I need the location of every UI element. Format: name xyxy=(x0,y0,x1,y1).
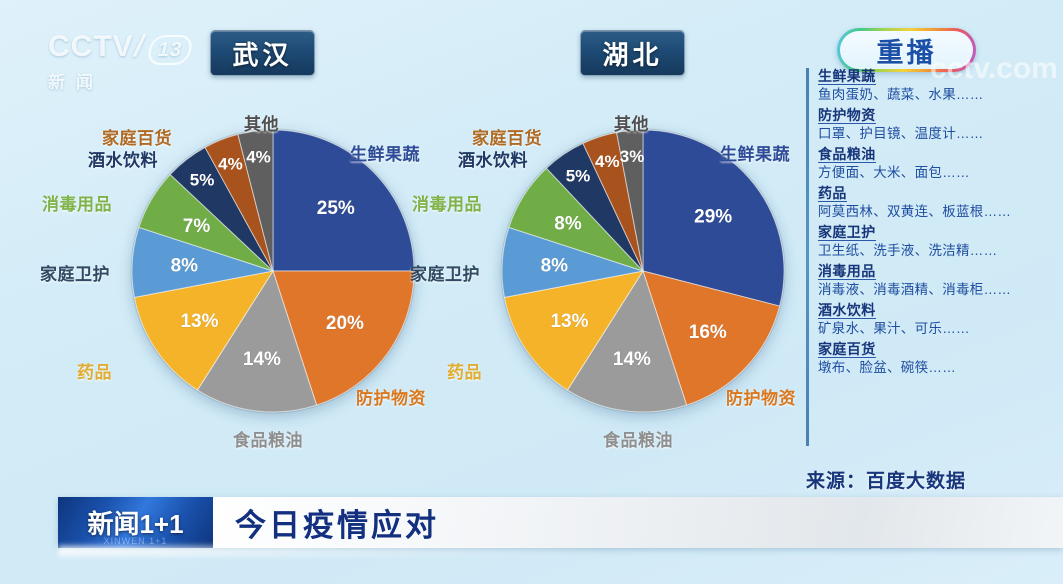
replay-badge: 重播 xyxy=(837,28,976,72)
legend-entry-term: 家庭卫护 xyxy=(818,225,876,241)
cctv-logo-slash: / xyxy=(130,32,148,62)
pie-slice-value: 16% xyxy=(689,322,727,343)
category-legend: 生鲜果蔬鱼肉蛋奶、蔬菜、水果……防护物资口罩、护目镜、温度计……食品粮油方便面、… xyxy=(806,68,1058,446)
legend-entry-term: 食品粮油 xyxy=(818,147,876,163)
legend-entry: 酒水饮料矿泉水、果汁、可乐…… xyxy=(818,302,1058,337)
pie-category-label: 药品 xyxy=(447,358,482,383)
pie-slice-value: 4% xyxy=(595,152,620,171)
pie-slice-value: 25% xyxy=(317,198,355,219)
program-logo: 新闻1+1 XINWEN 1+1 xyxy=(58,497,213,548)
pie-slice-value: 4% xyxy=(246,147,271,166)
pie-category-label: 食品粮油 xyxy=(603,426,673,451)
pie-slice-value: 3% xyxy=(620,147,645,166)
pie-category-label: 生鲜果蔬 xyxy=(350,140,420,165)
pie-category-label: 食品粮油 xyxy=(233,426,303,451)
legend-entry-definition: 口罩、护目镜、温度计…… xyxy=(818,126,1058,142)
pie-svg: 29%16%14%13%8%8%5%4%3% xyxy=(498,126,788,416)
chart-title-wuhan: 武汉 xyxy=(210,30,315,76)
data-source-label: 来源：百度大数据 xyxy=(806,466,966,493)
replay-badge-inner: 重播 xyxy=(840,31,973,69)
pie-category-label: 酒水饮料 xyxy=(458,146,528,171)
pie-slice-value: 8% xyxy=(171,255,199,276)
pie-slice-value: 8% xyxy=(554,213,582,234)
chart-title-wuhan-label: 武汉 xyxy=(232,35,292,72)
replay-badge-label: 重播 xyxy=(877,31,937,70)
cctv-logo-wordmark: CCTV/13 xyxy=(48,32,196,65)
pie-slice-value: 5% xyxy=(566,166,591,185)
legend-entry-term: 消毒用品 xyxy=(818,264,876,280)
legend-entry: 消毒用品消毒液、消毒酒精、消毒柜…… xyxy=(818,263,1058,298)
pie-slice-value: 14% xyxy=(613,349,651,370)
pie-slice-value: 14% xyxy=(243,349,281,370)
headline-bar: 今日疫情应对 xyxy=(213,497,1063,548)
pie-slice-value: 5% xyxy=(190,171,215,190)
pie-category-label: 家庭百货 xyxy=(102,124,172,149)
legend-entry-definition: 方便面、大米、面包…… xyxy=(818,165,1058,181)
pie-category-label: 其他 xyxy=(614,110,649,135)
pie-slice-value: 4% xyxy=(218,155,243,174)
legend-entry-definition: 阿莫西林、双黄连、板蓝根…… xyxy=(818,204,1058,220)
headline-text: 今日疫情应对 xyxy=(235,500,439,545)
pie-category-label: 其他 xyxy=(244,110,279,135)
pie-slice-value: 20% xyxy=(326,313,364,334)
pie-slice-value: 13% xyxy=(550,311,588,332)
legend-entry-term: 防护物资 xyxy=(818,108,876,124)
chart-title-hubei: 湖北 xyxy=(580,30,685,76)
pie-slice-value: 8% xyxy=(541,255,569,276)
legend-entry-definition: 矿泉水、果汁、可乐…… xyxy=(818,321,1058,337)
pie-category-label: 酒水饮料 xyxy=(88,146,158,171)
pie-category-label: 防护物资 xyxy=(356,384,426,409)
legend-entry-definition: 消毒液、消毒酒精、消毒柜…… xyxy=(818,282,1058,298)
pie-category-label: 生鲜果蔬 xyxy=(720,140,790,165)
pie-category-label: 药品 xyxy=(77,358,112,383)
legend-entry-term: 酒水饮料 xyxy=(818,303,876,319)
legend-entry: 生鲜果蔬鱼肉蛋奶、蔬菜、水果…… xyxy=(818,68,1058,103)
legend-entry: 防护物资口罩、护目镜、温度计…… xyxy=(818,107,1058,142)
legend-entry: 家庭卫护卫生纸、洗手液、洗洁精…… xyxy=(818,224,1058,259)
legend-entry-definition: 卫生纸、洗手液、洗洁精…… xyxy=(818,243,1058,259)
pie-category-label: 家庭卫护 xyxy=(40,260,110,285)
pie-category-label: 家庭百货 xyxy=(472,124,542,149)
legend-entry-definition: 鱼肉蛋奶、蔬菜、水果…… xyxy=(818,87,1058,103)
pie-svg: 25%20%14%13%8%7%5%4%4% xyxy=(128,126,418,416)
cctv-channel-logo: CCTV/13 新闻 xyxy=(48,32,196,94)
legend-entry: 食品粮油方便面、大米、面包…… xyxy=(818,146,1058,181)
pie-slice-value: 29% xyxy=(694,207,732,228)
legend-entry-term: 家庭百货 xyxy=(818,342,876,358)
legend-entry: 家庭百货墩布、脸盆、碗筷…… xyxy=(818,341,1058,376)
pie-slice-value: 13% xyxy=(180,311,218,332)
pie-slice-value: 7% xyxy=(183,216,211,237)
pie-category-label: 防护物资 xyxy=(726,384,796,409)
chart-title-hubei-label: 湖北 xyxy=(602,35,662,72)
legend-entry-term: 药品 xyxy=(818,186,847,202)
cctv-logo-subtitle: 新闻 xyxy=(48,68,196,93)
banner-glow-streak xyxy=(58,546,618,556)
lower-third-banner: 新闻1+1 XINWEN 1+1 今日疫情应对 xyxy=(58,497,1063,548)
pie-category-label: 消毒用品 xyxy=(42,190,112,215)
legend-entry: 药品阿莫西林、双黄连、板蓝根…… xyxy=(818,185,1058,220)
cctv-logo-number: 13 xyxy=(146,35,195,65)
legend-entry-term: 生鲜果蔬 xyxy=(818,69,876,85)
pie-chart-hubei: 29%16%14%13%8%8%5%4%3%生鲜果蔬防护物资食品粮油药品家庭卫护… xyxy=(498,126,788,416)
pie-category-label: 家庭卫护 xyxy=(410,260,480,285)
legend-divider-line xyxy=(806,68,809,446)
pie-chart-wuhan: 25%20%14%13%8%7%5%4%4%生鲜果蔬防护物资食品粮油药品家庭卫护… xyxy=(128,126,418,416)
cctv-logo-main: CCTV xyxy=(48,30,134,63)
legend-entry-list: 生鲜果蔬鱼肉蛋奶、蔬菜、水果……防护物资口罩、护目镜、温度计……食品粮油方便面、… xyxy=(818,68,1058,380)
legend-entry-definition: 墩布、脸盆、碗筷…… xyxy=(818,360,1058,376)
pie-category-label: 消毒用品 xyxy=(412,190,482,215)
broadcast-screen: CCTV/13 新闻 重播 cctv.com 武汉 湖北 25%20%14%13… xyxy=(0,0,1063,584)
program-logo-label: 新闻1+1 xyxy=(87,504,183,541)
